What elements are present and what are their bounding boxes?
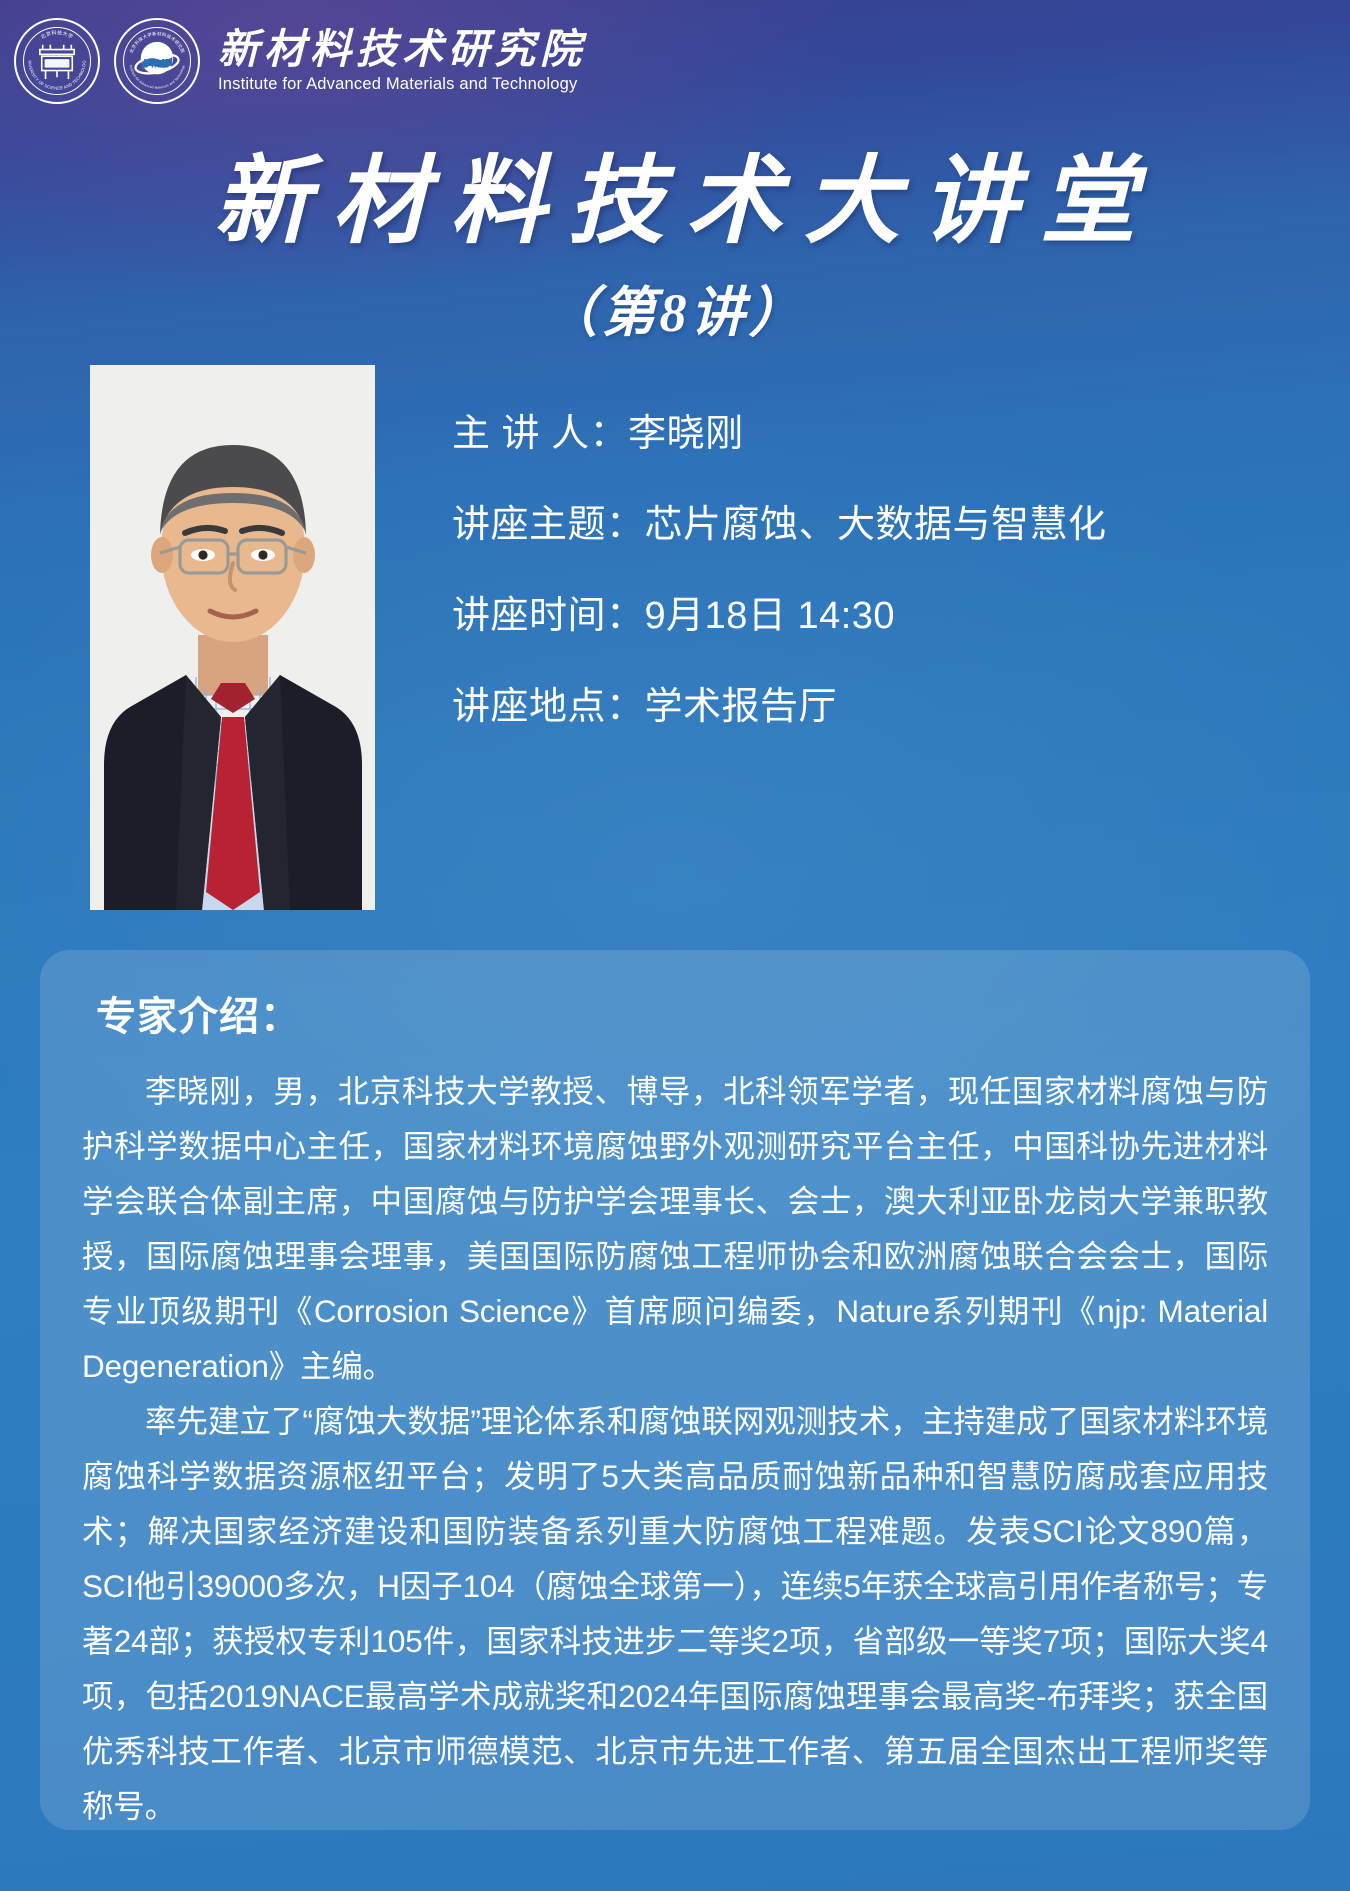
speaker-portrait xyxy=(90,365,375,910)
info-line-location: 讲座地点：学术报告厅 xyxy=(452,688,1312,726)
info-line-time: 讲座时间：9月18日 14:30 xyxy=(452,597,1312,635)
svg-text:IAMT: IAMT xyxy=(142,57,173,71)
portrait-illustration xyxy=(90,365,375,910)
header-logo-bar: 北京科技大学 UNIVERSITY OF SCIENCE AND TECHNOL… xyxy=(14,18,586,104)
institute-name-en: Institute for Advanced Materials and Tec… xyxy=(218,75,586,94)
iamt-globe-glyph: 北京科技大学新材料技术研究院 Institute for Advanced Ma… xyxy=(116,20,198,102)
expert-introduction-heading: 专家介绍： xyxy=(96,984,1274,1042)
iamt-institute-seal-icon: 北京科技大学新材料技术研究院 Institute for Advanced Ma… xyxy=(114,18,200,104)
institute-name-cn: 新材料技术研究院 xyxy=(218,28,586,71)
ustb-university-seal-icon: 北京科技大学 UNIVERSITY OF SCIENCE AND TECHNOL… xyxy=(14,18,100,104)
svg-text:北京科技大学: 北京科技大学 xyxy=(39,29,74,40)
ustb-ding-glyph: 北京科技大学 UNIVERSITY OF SCIENCE AND TECHNOL… xyxy=(16,20,98,102)
poster-title: 新材料技术大讲堂 xyxy=(0,150,1350,254)
expert-paragraph-2: 率先建立了“腐蚀大数据”理论体系和腐蚀联网观测技术，主持建成了国家材料环境腐蚀科… xyxy=(82,1394,1268,1834)
expert-paragraph-1: 李晓刚，男，北京科技大学教授、博导，北科领军学者，现任国家材料腐蚀与防护科学数据… xyxy=(82,1064,1268,1394)
svg-text:UNIVERSITY OF SCIENCE AND TECH: UNIVERSITY OF SCIENCE AND TECHNOLOGY xyxy=(16,20,87,91)
institute-name-block: 新材料技术研究院 Institute for Advanced Material… xyxy=(218,28,586,93)
lecture-info-block: 主 讲 人：李晓刚 讲座主题：芯片腐蚀、大数据与智慧化 讲座时间：9月18日 1… xyxy=(452,415,1312,726)
info-line-speaker: 主 讲 人：李晓刚 xyxy=(452,415,1312,453)
info-line-topic: 讲座主题：芯片腐蚀、大数据与智慧化 xyxy=(452,506,1312,544)
poster-subtitle: （第8讲） xyxy=(0,268,1350,347)
expert-introduction-panel: 专家介绍： 李晓刚，男，北京科技大学教授、博导，北科领军学者，现任国家材料腐蚀与… xyxy=(40,950,1310,1830)
poster-root: 北京科技大学 UNIVERSITY OF SCIENCE AND TECHNOL… xyxy=(0,0,1350,1891)
